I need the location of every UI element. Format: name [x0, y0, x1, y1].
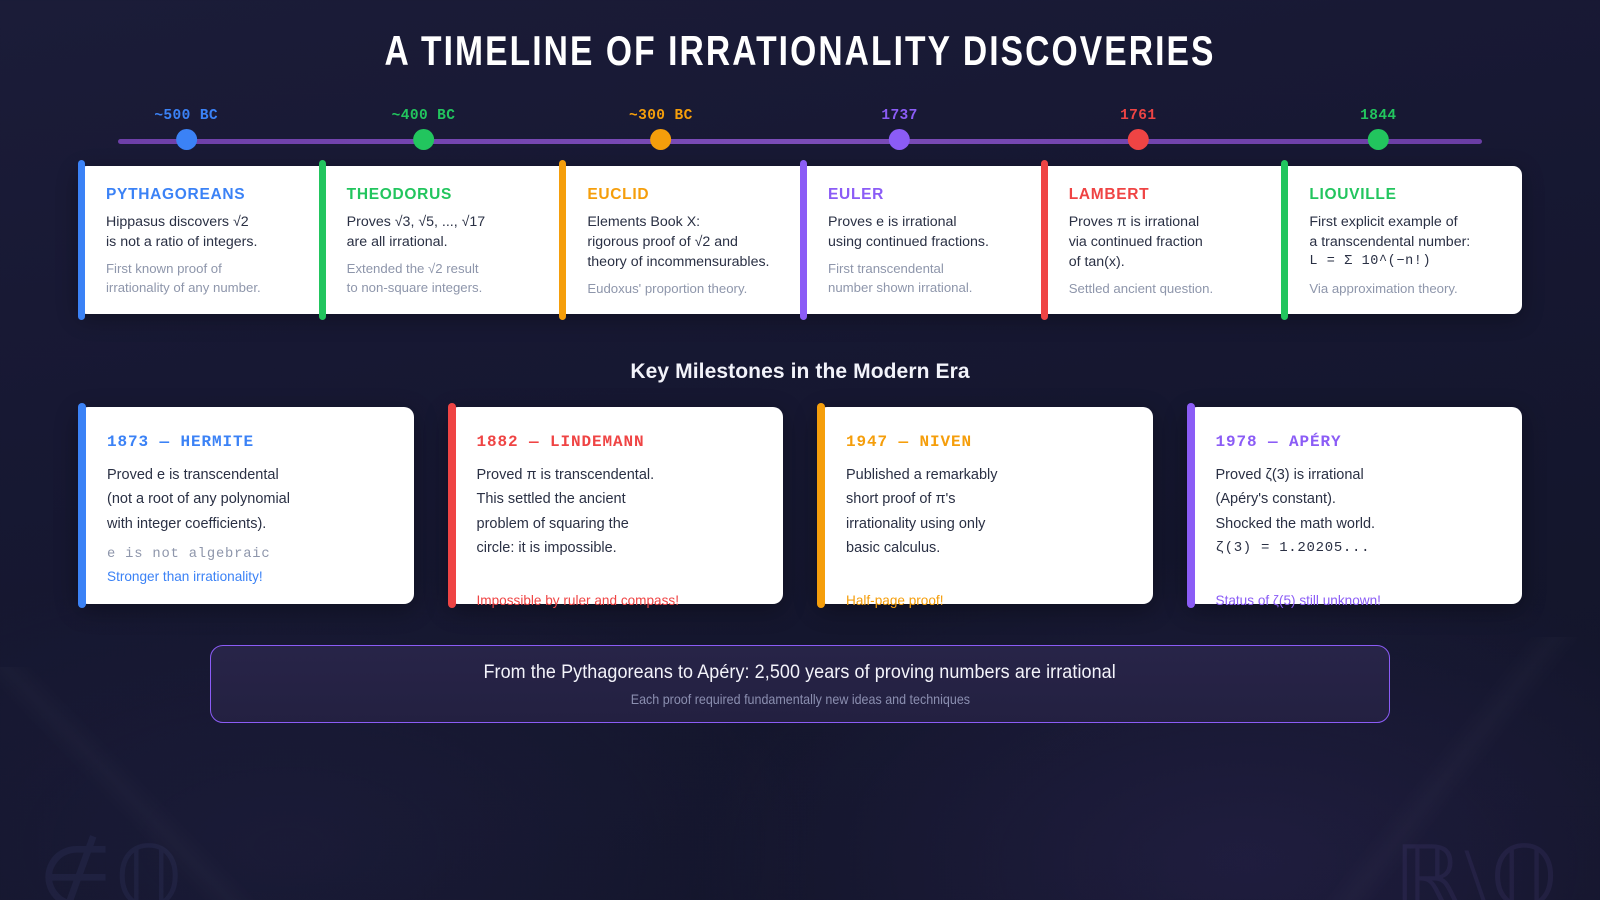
discovery-card-note: Extended the √2 resultto non-square inte…: [347, 259, 560, 297]
watermark-reals-minus-rationals: ℝ\ℚ: [1394, 835, 1560, 900]
card-accent-bar: [78, 403, 86, 608]
milestone-card-body: Published a remarkablyshort proof of π's…: [846, 463, 1153, 561]
discovery-card-body: Elements Book X:rigorous proof of √2 and…: [587, 212, 800, 272]
discovery-card-body-line: a transcendental number:: [1309, 232, 1522, 252]
card-accent-bar: [559, 160, 566, 320]
watermark-not-in-rationals: ∉ℚ: [38, 835, 185, 900]
discovery-card-note: Settled ancient question.: [1069, 279, 1282, 298]
timeline-node-label: ~500 BC: [154, 108, 218, 124]
summary-banner-sub: Each proof required fundamentally new id…: [630, 692, 969, 707]
milestone-card-note: Impossible by ruler and compass!: [477, 591, 784, 611]
milestone-card-body-line: circle: it is impossible.: [477, 536, 784, 560]
milestone-card-body-line: (not a root of any polynomial: [107, 487, 414, 511]
discovery-card-body-line: Elements Book X:: [587, 212, 800, 232]
discovery-card-note-line: Via approximation theory.: [1309, 279, 1522, 298]
discovery-card-body-line: Proves π is irrational: [1069, 212, 1282, 232]
timeline-node-label: 1737: [881, 108, 917, 124]
discovery-card-body-line: via continued fraction: [1069, 232, 1282, 252]
discovery-card-note: First transcendentalnumber shown irratio…: [828, 259, 1041, 297]
section-heading: Key Milestones in the Modern Era: [0, 360, 1600, 384]
milestone-card-body-line: This settled the ancient: [477, 487, 784, 511]
timeline-node[interactable]: 1844: [1360, 108, 1396, 150]
milestone-card-body-line: Shocked the math world.: [1216, 512, 1523, 536]
timeline-node-dot: [889, 129, 910, 150]
card-accent-bar: [817, 403, 825, 608]
milestone-card-body-line: short proof of π's: [846, 487, 1153, 511]
timeline-node-label: ~400 BC: [392, 108, 456, 124]
discovery-card-body-line: theory of incommensurables.: [587, 252, 800, 272]
discovery-card-body-line: using continued fractions.: [828, 232, 1041, 252]
discovery-card-note: First known proof ofirrationality of any…: [106, 259, 319, 297]
discovery-card-note-line: Extended the √2 result: [347, 259, 560, 278]
milestone-card-body: Proved π is transcendental.This settled …: [477, 463, 784, 561]
card-accent-bar: [78, 160, 85, 320]
milestone-card-note: Half-page proof!: [846, 591, 1153, 611]
discovery-card[interactable]: EULERProves e is irrationalusing continu…: [800, 166, 1041, 314]
discovery-card[interactable]: THEODORUSProves √3, √5, ..., √17are all …: [319, 166, 560, 314]
timeline-node-dot: [650, 129, 671, 150]
timeline-node-label: 1844: [1360, 108, 1396, 124]
discovery-card-body-line: are all irrational.: [347, 232, 560, 252]
discovery-card-note-line: First transcendental: [828, 259, 1041, 278]
discovery-card-note-line: irrationality of any number.: [106, 278, 319, 297]
timeline-node[interactable]: ~500 BC: [154, 108, 218, 150]
discovery-card-name: LAMBERT: [1069, 186, 1282, 204]
discovery-card-note: Via approximation theory.: [1309, 279, 1522, 298]
milestone-card-mono-note: e is not algebraic: [107, 545, 414, 565]
timeline-node[interactable]: 1761: [1120, 108, 1156, 150]
discovery-card-body: First explicit example ofa transcendenta…: [1309, 212, 1522, 272]
timeline-node-label: 1761: [1120, 108, 1156, 124]
discovery-card-note-line: First known proof of: [106, 259, 319, 278]
discovery-card-formula: L = Σ 10^(−n!): [1309, 252, 1522, 272]
milestone-card-title: 1947 — NIVEN: [846, 433, 1153, 451]
milestone-card-body-line: (Apéry's constant).: [1216, 487, 1523, 511]
milestone-card-title: 1873 — HERMITE: [107, 433, 414, 451]
discovery-card-name: EUCLID: [587, 186, 800, 204]
timeline-node-dot: [413, 129, 434, 150]
milestone-card-body-line: basic calculus.: [846, 536, 1153, 560]
milestone-card[interactable]: 1882 — LINDEMANNProved π is transcendent…: [448, 407, 784, 604]
timeline-node-dot: [1368, 129, 1389, 150]
card-accent-bar: [319, 160, 326, 320]
timeline-node[interactable]: ~400 BC: [392, 108, 456, 150]
timeline-axis: ~500 BC~400 BC~300 BC173717611844: [118, 108, 1482, 160]
discovery-card[interactable]: LIOUVILLEFirst explicit example ofa tran…: [1281, 166, 1522, 314]
discovery-card-body-line: First explicit example of: [1309, 212, 1522, 232]
timeline-track: [118, 139, 1482, 144]
card-accent-bar: [1041, 160, 1048, 320]
discovery-card-body-line: Proves e is irrational: [828, 212, 1041, 232]
discovery-card-body-line: rigorous proof of √2 and: [587, 232, 800, 252]
milestone-card-body: Proved ζ(3) is irrational(Apéry's consta…: [1216, 463, 1523, 561]
discovery-card[interactable]: PYTHAGOREANSHippasus discovers √2is not …: [78, 166, 319, 314]
discovery-card-body: Proves √3, √5, ..., √17are all irrationa…: [347, 212, 560, 252]
timeline-node-label: ~300 BC: [629, 108, 693, 124]
discovery-card-name: LIOUVILLE: [1309, 186, 1522, 204]
card-accent-bar: [448, 403, 456, 608]
discovery-card[interactable]: LAMBERTProves π is irrationalvia continu…: [1041, 166, 1282, 314]
milestone-card-title: 1978 — APÉRY: [1216, 433, 1523, 451]
milestone-card[interactable]: 1947 — NIVENPublished a remarkablyshort …: [817, 407, 1153, 604]
page-title: A TIMELINE OF IRRATIONALITY DISCOVERIES: [160, 27, 1440, 75]
card-accent-bar: [800, 160, 807, 320]
discovery-card-body-line: Proves √3, √5, ..., √17: [347, 212, 560, 232]
timeline-node[interactable]: ~300 BC: [629, 108, 693, 150]
milestone-card-body-line: problem of squaring the: [477, 512, 784, 536]
discovery-card-body: Proves e is irrationalusing continued fr…: [828, 212, 1041, 252]
discovery-card-name: EULER: [828, 186, 1041, 204]
discovery-card[interactable]: EUCLIDElements Book X:rigorous proof of …: [559, 166, 800, 314]
timeline-node-dot: [1128, 129, 1149, 150]
milestone-card-body-line: Proved ζ(3) is irrational: [1216, 463, 1523, 487]
summary-banner: From the Pythagoreans to Apéry: 2,500 ye…: [210, 645, 1390, 723]
discovery-card-body: Hippasus discovers √2is not a ratio of i…: [106, 212, 319, 252]
discovery-card-note-line: to non-square integers.: [347, 278, 560, 297]
milestone-card-body-line: Proved π is transcendental.: [477, 463, 784, 487]
discovery-card-note-line: number shown irrational.: [828, 278, 1041, 297]
discovery-card-name: THEODORUS: [347, 186, 560, 204]
discovery-card-name: PYTHAGOREANS: [106, 186, 319, 204]
milestone-card-formula: ζ(3) = 1.20205...: [1216, 536, 1523, 560]
discovery-card-note: Eudoxus' proportion theory.: [587, 279, 800, 298]
modern-milestones-row: 1873 — HERMITEProved e is transcendental…: [78, 407, 1522, 604]
discovery-card-note-line: Eudoxus' proportion theory.: [587, 279, 800, 298]
milestone-card-body-line: with integer coefficients).: [107, 512, 414, 536]
ancient-discoveries-strip: PYTHAGOREANSHippasus discovers √2is not …: [78, 166, 1522, 314]
discovery-card-body-line: is not a ratio of integers.: [106, 232, 319, 252]
discovery-card-body-line: Hippasus discovers √2: [106, 212, 319, 232]
card-accent-bar: [1281, 160, 1288, 320]
timeline-node-dot: [176, 129, 197, 150]
milestone-card-body: Proved e is transcendental(not a root of…: [107, 463, 414, 536]
card-accent-bar: [1187, 403, 1195, 608]
discovery-card-note-line: Settled ancient question.: [1069, 279, 1282, 298]
milestone-card-body-line: Proved e is transcendental: [107, 463, 414, 487]
milestone-card-note: Status of ζ(5) still unknown!: [1216, 591, 1523, 611]
summary-banner-main: From the Pythagoreans to Apéry: 2,500 ye…: [484, 661, 1116, 684]
discovery-card-body: Proves π is irrationalvia continued frac…: [1069, 212, 1282, 272]
milestone-card[interactable]: 1978 — APÉRYProved ζ(3) is irrational(Ap…: [1187, 407, 1523, 604]
timeline-node[interactable]: 1737: [881, 108, 917, 150]
milestone-card[interactable]: 1873 — HERMITEProved e is transcendental…: [78, 407, 414, 604]
milestone-card-body-line: Published a remarkably: [846, 463, 1153, 487]
milestone-card-body-line: irrationality using only: [846, 512, 1153, 536]
discovery-card-body-line: of tan(x).: [1069, 252, 1282, 272]
milestone-card-title: 1882 — LINDEMANN: [477, 433, 784, 451]
milestone-card-note: Stronger than irrationality!: [107, 567, 414, 587]
